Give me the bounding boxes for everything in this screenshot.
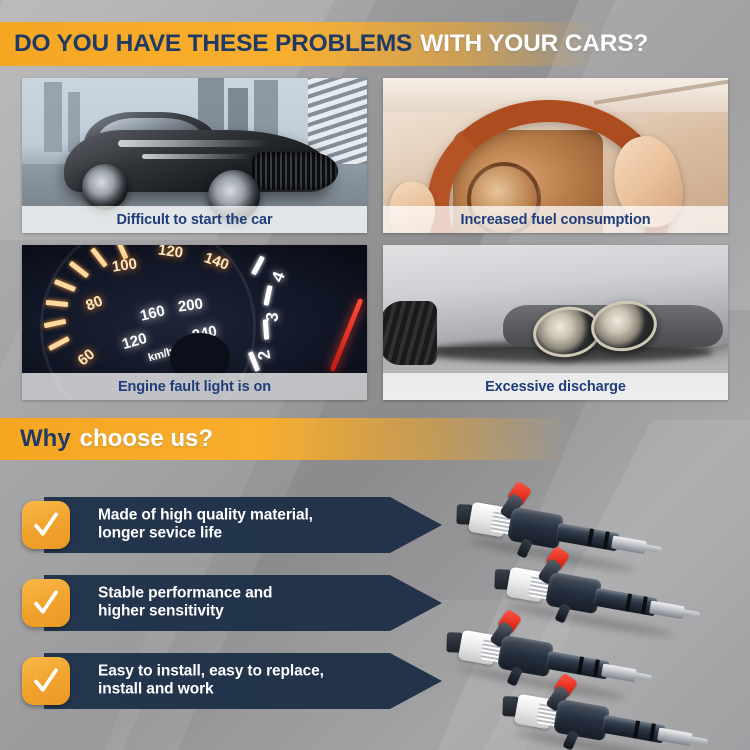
headline-text-primary: DO YOU HAVE THESE PROBLEMS xyxy=(14,30,412,58)
why-heading-secondary: choose us? xyxy=(80,425,213,453)
problem-card: Difficult to start the car xyxy=(22,78,367,233)
feature-item: Made of high quality material, longer se… xyxy=(22,497,442,553)
why-choose-heading: Why choose us? xyxy=(0,418,750,460)
feature-text: Easy to install, easy to replace, instal… xyxy=(98,663,398,700)
feature-text: Made of high quality material, longer se… xyxy=(98,507,398,544)
problem-card: Increased fuel consumption xyxy=(383,78,728,233)
tacho-mark: 2 xyxy=(254,349,275,362)
sports-car-photo: Difficult to start the car xyxy=(22,78,367,233)
feature-text: Stable performance and higher sensitivit… xyxy=(98,585,398,622)
feature-line: Stable performance and xyxy=(98,585,398,603)
feature-line: higher sensitivity xyxy=(98,603,398,621)
tacho-mark: 3 xyxy=(262,311,283,323)
why-heading-primary: Why xyxy=(20,425,71,453)
problem-caption: Engine fault light is on xyxy=(22,373,367,400)
problem-card: Excessive discharge xyxy=(383,245,728,400)
feature-item: Stable performance and higher sensitivit… xyxy=(22,575,442,631)
speed-mark: 200 xyxy=(177,295,204,315)
headline-text-secondary: WITH YOUR CARS? xyxy=(420,30,648,58)
feature-line: Easy to install, easy to replace, xyxy=(98,663,398,681)
check-icon xyxy=(22,501,70,549)
feature-line: install and work xyxy=(98,681,398,699)
problem-caption: Excessive discharge xyxy=(383,373,728,400)
feature-line: longer sevice life xyxy=(98,525,398,543)
tacho-mark: 4 xyxy=(268,269,290,285)
product-marketing-banner: DO YOU HAVE THESE PROBLEMS WITH YOUR CAR… xyxy=(0,0,750,750)
problem-caption: Difficult to start the car xyxy=(22,206,367,233)
headline: DO YOU HAVE THESE PROBLEMS WITH YOUR CAR… xyxy=(0,22,750,66)
problem-image-grid: Difficult to start the car Increased fue… xyxy=(22,78,728,404)
speed-mark: 100 xyxy=(111,255,138,275)
steering-wheel-photo: Increased fuel consumption xyxy=(383,78,728,233)
problem-card: 60 80 100 120 140 120 160 200 240 km/h 4… xyxy=(22,245,367,400)
feature-item: Easy to install, easy to replace, instal… xyxy=(22,653,442,709)
exhaust-photo: Excessive discharge xyxy=(383,245,728,400)
problem-caption: Increased fuel consumption xyxy=(383,206,728,233)
speedometer-photo: 60 80 100 120 140 120 160 200 240 km/h 4… xyxy=(22,245,367,400)
check-icon xyxy=(22,579,70,627)
feature-line: Made of high quality material, xyxy=(98,507,398,525)
check-icon xyxy=(22,657,70,705)
